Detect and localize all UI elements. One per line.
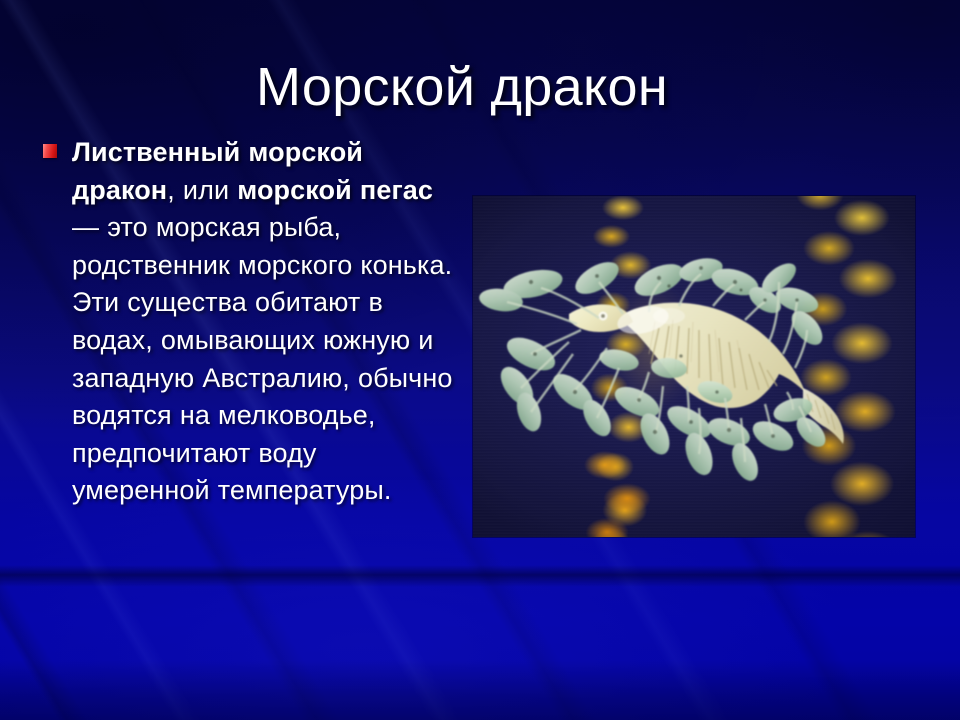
slide-title: Морской дракон bbox=[256, 57, 668, 117]
sea-dragon-figure bbox=[473, 196, 915, 537]
background-bottom-band bbox=[0, 660, 960, 720]
red-square-bullet-icon bbox=[43, 144, 57, 158]
slide-body: Лиственный морской дракон, или морской п… bbox=[40, 134, 460, 510]
body-paragraph: Лиственный морской дракон, или морской п… bbox=[72, 134, 460, 510]
leafy-sea-dragon-photo bbox=[473, 196, 915, 537]
bullet-list-item: Лиственный морской дракон, или морской п… bbox=[40, 134, 460, 510]
presentation-slide: Морской дракон Лиственный морской дракон… bbox=[0, 0, 960, 720]
body-segment-bold-2: морской пегас bbox=[237, 175, 433, 205]
body-segment-plain-2: — это морская рыба, родственник морского… bbox=[72, 212, 452, 505]
background-horizontal-band bbox=[0, 565, 960, 587]
body-segment-plain-1: , или bbox=[167, 175, 237, 205]
